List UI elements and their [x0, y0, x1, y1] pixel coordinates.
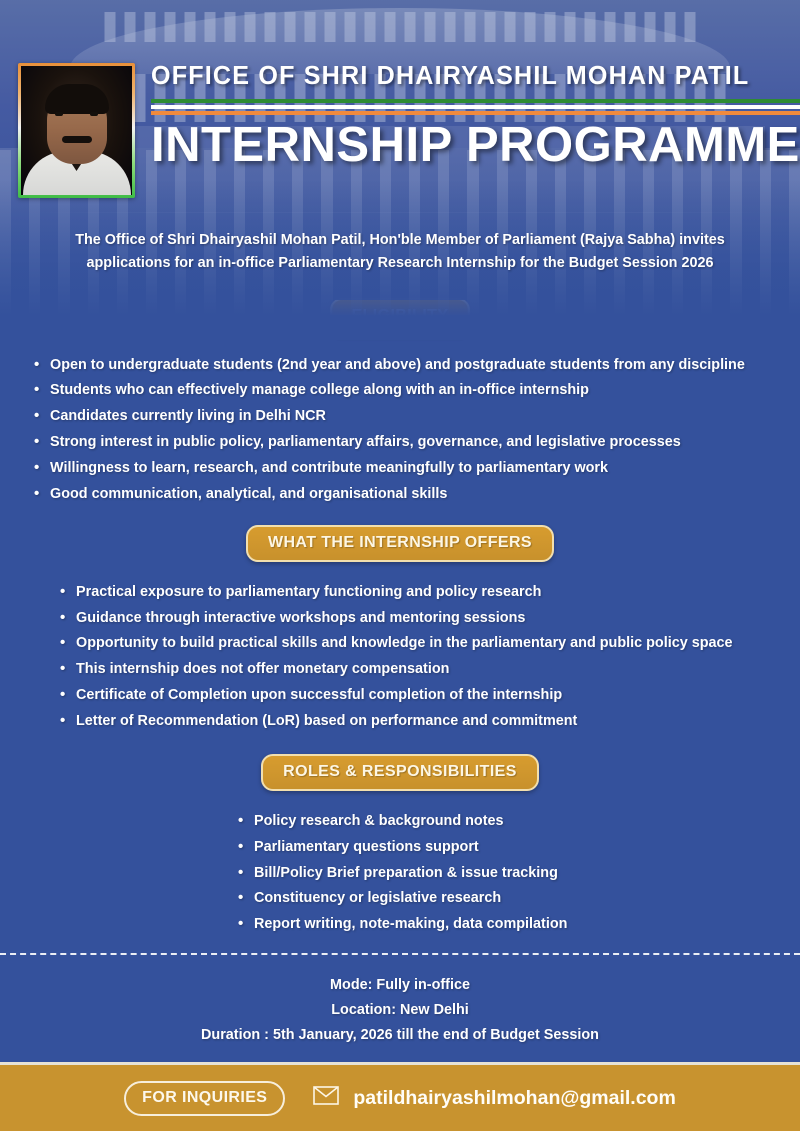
offers-list: Practical exposure to parliamentary func…	[60, 584, 800, 730]
header-divider-rule	[34, 212, 766, 213]
internship-details: Mode: Fully in-office Location: New Delh…	[0, 973, 800, 1047]
list-item: Certificate of Completion upon successfu…	[60, 687, 800, 704]
for-inquiries-badge: FOR INQUIRIES	[124, 1081, 285, 1116]
poster-header: OFFICE OF SHRI DHAIRYASHIL MOHAN PATIL I…	[0, 0, 800, 198]
list-item: Report writing, note-making, data compil…	[238, 916, 800, 933]
list-item: Strong interest in public policy, parlia…	[34, 434, 800, 451]
list-item: This internship does not offer monetary …	[60, 661, 800, 678]
list-item: Policy research & background notes	[238, 813, 800, 830]
section-internship-offers: WHAT THE INTERNSHIP OFFERS Practical exp…	[0, 525, 800, 730]
duration-text: Duration : 5th January, 2026 till the en…	[0, 1023, 800, 1048]
roles-heading-badge: ROLES & RESPONSIBILITIES	[261, 754, 539, 791]
list-item: Opportunity to build practical skills an…	[60, 635, 800, 652]
email-contact[interactable]: patildhairyashilmohan@gmail.com	[313, 1086, 675, 1110]
mode-text: Mode: Fully in-office	[0, 973, 800, 998]
eligibility-heading-badge: ELIGIBILITY	[330, 298, 471, 335]
list-item: Bill/Policy Brief preparation & issue tr…	[238, 865, 800, 882]
offers-heading-badge: WHAT THE INTERNSHIP OFFERS	[246, 525, 554, 562]
intro-line-1: The Office of Shri Dhairyashil Mohan Pat…	[32, 229, 768, 252]
list-item: Guidance through interactive workshops a…	[60, 610, 800, 627]
list-item: Parliamentary questions support	[238, 839, 800, 856]
dashed-separator	[0, 953, 800, 955]
mp-portrait-frame	[18, 63, 135, 198]
header-text-block: OFFICE OF SHRI DHAIRYASHIL MOHAN PATIL I…	[135, 63, 800, 198]
tricolor-divider	[151, 99, 800, 115]
list-item: Candidates currently living in Delhi NCR	[34, 408, 800, 425]
list-item: Students who can effectively manage coll…	[34, 382, 800, 399]
roles-list: Policy research & background notes Parli…	[238, 813, 800, 933]
page-title: INTERNSHIP PROGRAMME	[151, 121, 800, 171]
section-eligibility: ELIGIBILITY Open to undergraduate studen…	[0, 298, 800, 503]
office-title: OFFICE OF SHRI DHAIRYASHIL MOHAN PATIL	[151, 63, 790, 90]
envelope-icon	[313, 1086, 339, 1110]
list-item: Constituency or legislative research	[238, 890, 800, 907]
list-item: Open to undergraduate students (2nd year…	[34, 357, 800, 374]
intro-line-2: applications for an in-office Parliament…	[32, 252, 768, 275]
internship-poster: OFFICE OF SHRI DHAIRYASHIL MOHAN PATIL I…	[0, 0, 800, 1131]
list-item: Good communication, analytical, and orga…	[34, 486, 800, 503]
contact-footer: FOR INQUIRIES patildhairyashilmohan@gmai…	[0, 1062, 800, 1131]
avatar	[21, 66, 132, 195]
location-text: Location: New Delhi	[0, 998, 800, 1023]
eligibility-list: Open to undergraduate students (2nd year…	[34, 357, 800, 503]
email-address[interactable]: patildhairyashilmohan@gmail.com	[353, 1087, 675, 1110]
list-item: Practical exposure to parliamentary func…	[60, 584, 800, 601]
intro-paragraph: The Office of Shri Dhairyashil Mohan Pat…	[32, 229, 768, 276]
list-item: Willingness to learn, research, and cont…	[34, 460, 800, 477]
section-roles-responsibilities: ROLES & RESPONSIBILITIES Policy research…	[0, 754, 800, 933]
list-item: Letter of Recommendation (LoR) based on …	[60, 713, 800, 730]
